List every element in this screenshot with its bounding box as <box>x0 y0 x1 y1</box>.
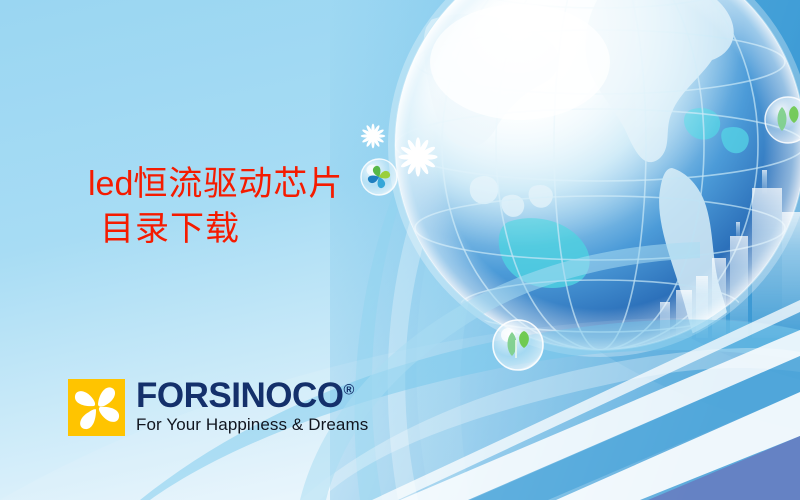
logo-text-block: FORSINOCO® For Your Happiness & Dreams <box>136 379 368 435</box>
company-logo: FORSINOCO® For Your Happiness & Dreams <box>68 379 368 436</box>
headline-line-1: led恒流驱动芯片 <box>88 162 343 207</box>
sparkle-flower-icon <box>398 137 437 176</box>
headline-latin-text: led <box>88 165 133 203</box>
headline: led恒流驱动芯片 目录下载 <box>88 162 343 252</box>
sparkle-flower-icon <box>361 124 386 149</box>
registered-trademark-icon: ® <box>343 382 353 398</box>
promo-banner: led恒流驱动芯片 目录下载 FORSINOCO® For Your Happi… <box>0 0 800 500</box>
headline-cjk-text: 恒流驱动芯片 <box>133 164 343 204</box>
logo-wordmark: FORSINOCO® <box>136 379 354 413</box>
headline-line-2: 目录下载 <box>88 207 343 252</box>
logo-wordmark-text: FORSINOCO <box>136 376 343 415</box>
bubble-leaf-icon <box>493 320 543 370</box>
bubble-leaf-edge-icon <box>765 97 800 143</box>
logo-tagline: For Your Happiness & Dreams <box>136 415 368 435</box>
bubble-pinwheel-icon <box>361 159 397 195</box>
four-petal-pinwheel-mark-icon <box>68 379 125 436</box>
